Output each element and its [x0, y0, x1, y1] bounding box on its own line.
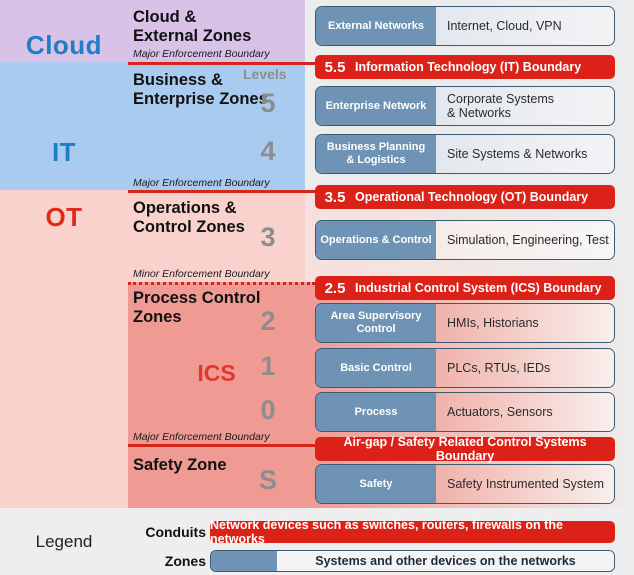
zone-desc-business-planning: Site Systems & Networks [436, 135, 614, 173]
domain-label-ot: OT [0, 202, 128, 233]
zone-tag-area-line1: Area Supervisory [330, 310, 421, 323]
zone-row-basic-control[interactable]: Basic Control PLCs, RTUs, IEDs [315, 348, 615, 388]
level-number-1: 1 [240, 351, 296, 382]
zone-row-safety[interactable]: Safety Safety Instrumented System [315, 464, 615, 504]
zone-desc-process: Actuators, Sensors [436, 393, 614, 431]
domain-label-it: IT [0, 137, 128, 168]
zone-desc-enterprise-line2: & Networks [447, 106, 554, 120]
zone-group-title-cloud-line2: External Zones [133, 27, 293, 46]
zone-tag-business-line2: & Logistics [327, 154, 425, 167]
purdue-model-diagram: Cloud IT OT ICS Cloud & External Zones B… [0, 0, 634, 575]
level-number-5: 5 [240, 88, 296, 119]
zone-tag-safety: Safety [316, 465, 436, 503]
boundary-number-it: 5.5 [315, 59, 355, 76]
zone-group-title-cloud-line1: Cloud & [133, 8, 293, 27]
zone-tag-business-line1: Business Planning [327, 141, 425, 154]
enforcement-rule-1 [128, 62, 315, 65]
zone-row-external-networks[interactable]: External Networks Internet, Cloud, VPN [315, 6, 615, 46]
zone-row-operations-control[interactable]: Operations & Control Simulation, Enginee… [315, 220, 615, 260]
legend-zones-bar: Systems and other devices on the network… [210, 550, 615, 572]
boundary-text-ot: Operational Technology (OT) Boundary [355, 190, 588, 204]
zone-tag-area-line2: Control [330, 323, 421, 336]
boundary-bar-it[interactable]: 5.5 Information Technology (IT) Boundary [315, 55, 615, 79]
level-number-4: 4 [240, 136, 296, 167]
zone-desc-basic-control: PLCs, RTUs, IEDs [436, 349, 614, 387]
legend-label-conduits: Conduits [128, 524, 206, 540]
levels-caption: Levels [243, 66, 287, 82]
zone-group-title-cloud: Cloud & External Zones [133, 8, 293, 46]
level-number-s: S [240, 465, 296, 496]
zone-desc-enterprise-network: Corporate Systems & Networks [436, 87, 614, 125]
zone-tag-process: Process [316, 393, 436, 431]
level-number-3: 3 [240, 222, 296, 253]
zone-tag-business-planning: Business Planning & Logistics [316, 135, 436, 173]
zone-tag-operations-control: Operations & Control [316, 221, 436, 259]
boundary-text-ics: Industrial Control System (ICS) Boundary [355, 281, 602, 295]
zone-desc-external-networks: Internet, Cloud, VPN [436, 7, 614, 45]
zone-tag-enterprise-network: Enterprise Network [316, 87, 436, 125]
zone-tag-area-supervisory: Area Supervisory Control [316, 304, 436, 342]
zone-desc-enterprise-line1: Corporate Systems [447, 92, 554, 106]
level-number-2: 2 [240, 306, 296, 337]
boundary-text-airgap: Air-gap / Safety Related Control Systems… [315, 435, 615, 463]
legend-conduits-bar: Network devices such as switches, router… [210, 521, 615, 543]
enforcement-rule-3 [128, 282, 315, 285]
legend-zone-text: Systems and other devices on the network… [277, 551, 614, 571]
legend-label-zones: Zones [128, 553, 206, 569]
boundary-number-ot: 3.5 [315, 189, 355, 206]
zone-desc-safety: Safety Instrumented System [436, 465, 614, 503]
boundary-bar-ot[interactable]: 3.5 Operational Technology (OT) Boundary [315, 185, 615, 209]
enforcement-caption-3: Minor Enforcement Boundary [133, 268, 270, 280]
zone-row-process[interactable]: Process Actuators, Sensors [315, 392, 615, 432]
boundary-text-it: Information Technology (IT) Boundary [355, 60, 581, 74]
enforcement-rule-4 [128, 444, 315, 447]
zone-tag-basic-control: Basic Control [316, 349, 436, 387]
zone-group-title-operations-line1: Operations & [133, 199, 293, 218]
boundary-bar-airgap[interactable]: Air-gap / Safety Related Control Systems… [315, 437, 615, 461]
legend-title: Legend [0, 532, 128, 552]
zone-row-enterprise-network[interactable]: Enterprise Network Corporate Systems & N… [315, 86, 615, 126]
level-number-0: 0 [240, 395, 296, 426]
zone-desc-area-supervisory: HMIs, Historians [436, 304, 614, 342]
zone-row-business-planning[interactable]: Business Planning & Logistics Site Syste… [315, 134, 615, 174]
zone-desc-operations-control: Simulation, Engineering, Test [436, 221, 614, 259]
enforcement-caption-2: Major Enforcement Boundary [133, 177, 270, 189]
enforcement-caption-1: Major Enforcement Boundary [133, 48, 270, 60]
enforcement-caption-4: Major Enforcement Boundary [133, 431, 270, 443]
domain-label-cloud: Cloud [0, 30, 128, 61]
boundary-number-ics: 2.5 [315, 280, 355, 297]
boundary-bar-ics[interactable]: 2.5 Industrial Control System (ICS) Boun… [315, 276, 615, 300]
zone-tag-external-networks: External Networks [316, 7, 436, 45]
legend-zone-swatch [211, 551, 277, 571]
enforcement-rule-2 [128, 190, 315, 193]
zone-row-area-supervisory[interactable]: Area Supervisory Control HMIs, Historian… [315, 303, 615, 343]
